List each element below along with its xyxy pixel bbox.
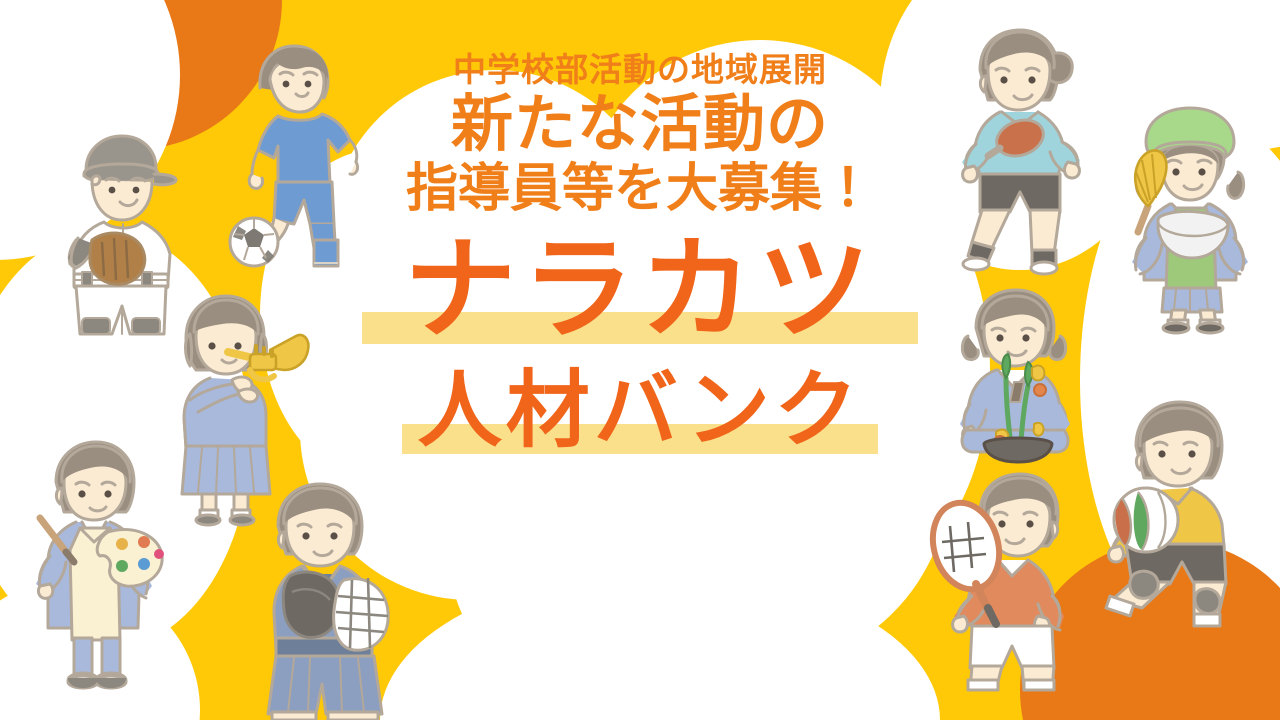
table-tennis-illustration <box>958 20 1093 275</box>
headline-block: 中学校部活動の地域展開 新たな活動の 指導員等を大募集！ ナラカツ 人材バンク <box>340 52 940 452</box>
brand-wrapper: ナラカツ <box>340 234 940 346</box>
kendo-player-illustration <box>252 472 402 720</box>
baseball-player-illustration <box>58 128 188 338</box>
lede-text: 中学校部活動の地域展開 <box>340 52 940 88</box>
volleyball-player-illustration <box>1098 392 1263 627</box>
poster-canvas: 中学校部活動の地域展開 新たな活動の 指導員等を大募集！ ナラカツ 人材バンク <box>0 0 1280 720</box>
tennis-player-illustration <box>918 468 1063 693</box>
brand-title: ナラカツ <box>340 234 940 346</box>
soccer-player-illustration <box>218 28 358 268</box>
subbrand-wrapper: 人材バンク <box>340 368 940 452</box>
headline-line3: 指導員等を大募集！ <box>340 161 940 218</box>
art-club-illustration <box>22 432 162 692</box>
headline-line2: 新たな活動の <box>340 92 940 159</box>
subbrand-title: 人材バンク <box>340 368 940 452</box>
cooking-club-illustration <box>1120 102 1260 332</box>
flower-arranging-illustration <box>948 282 1083 462</box>
